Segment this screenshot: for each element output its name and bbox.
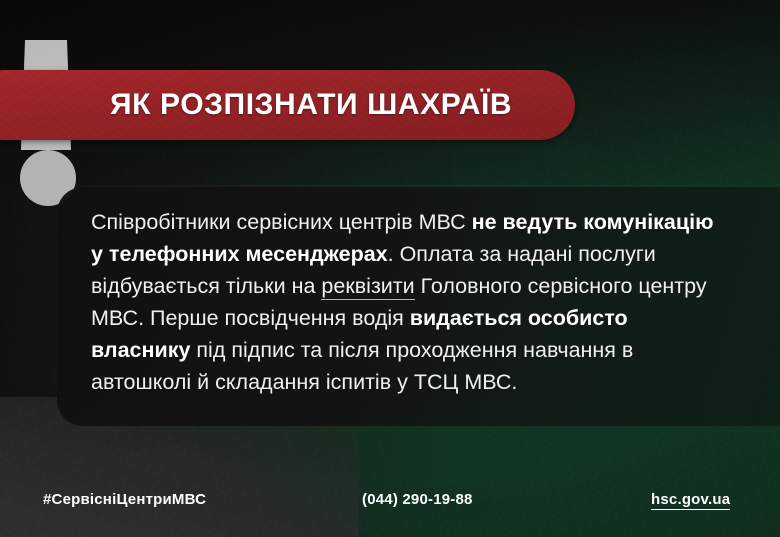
body-text-run: Співробітники сервісних центрів МВС — [91, 210, 472, 234]
body-paragraph: Співробітники сервісних центрів МВС не в… — [91, 206, 716, 398]
footer-hashtag: #СервісніЦентриМВС — [43, 491, 206, 508]
footer-website-label: hsc.gov.ua — [651, 491, 730, 510]
body-text-underline: реквізити — [321, 274, 414, 300]
footer-website-link[interactable]: hsc.gov.ua — [651, 491, 730, 508]
footer-phone-number[interactable]: (044) 290-19-88 — [362, 491, 473, 508]
infographic-poster: ЯК РОЗПІЗНАТИ ШАХРАЇВ Співробітники серв… — [0, 0, 780, 537]
page-title: ЯК РОЗПІЗНАТИ ШАХРАЇВ — [110, 70, 560, 140]
